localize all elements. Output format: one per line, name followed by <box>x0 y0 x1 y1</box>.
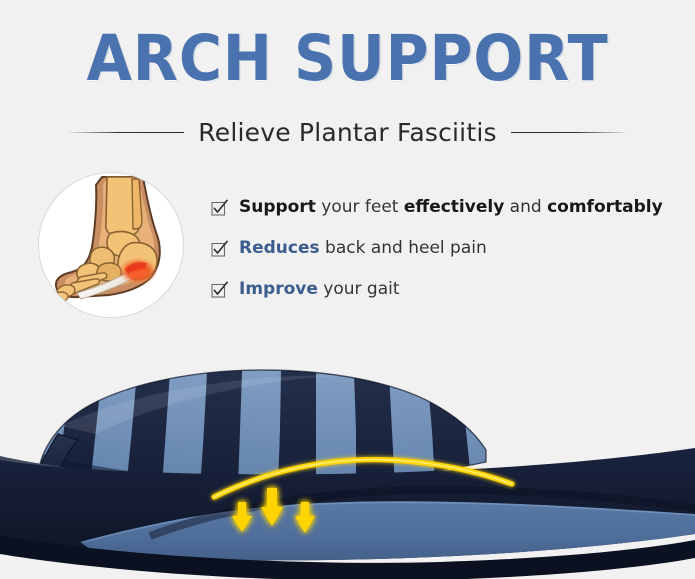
benefit-emphasis: Support <box>239 197 316 217</box>
benefits-list: Support your feet effectively and comfor… <box>211 196 691 319</box>
checkbox-checked-icon <box>211 240 228 257</box>
subtitle-row: Relieve Plantar Fasciitis <box>0 118 695 147</box>
divider-right <box>511 132 629 133</box>
benefit-emphasis: effectively <box>404 197 504 217</box>
benefit-text-reduces: Reduces back and heel pain <box>239 237 487 259</box>
benefit-emphasis: Improve <box>239 279 318 299</box>
foot-anatomy-illustration <box>38 172 184 318</box>
benefit-text-support: Support your feet effectively and comfor… <box>239 196 663 218</box>
checkbox-checked-icon <box>211 281 228 298</box>
divider-left <box>66 132 184 133</box>
benefit-plain: back and heel pain <box>320 238 487 258</box>
benefit-emphasis: Reduces <box>239 238 320 258</box>
benefit-plain: your gait <box>318 279 400 299</box>
page-title: ARCH SUPPORT <box>24 26 670 92</box>
sandal-illustration <box>0 330 695 579</box>
benefit-text-improve: Improve your gait <box>239 278 400 300</box>
page-subtitle: Relieve Plantar Fasciitis <box>198 118 496 147</box>
list-item: Reduces back and heel pain <box>211 237 691 261</box>
benefit-plain: your feet <box>316 197 404 217</box>
checkbox-checked-icon <box>211 199 228 216</box>
product-infographic: ARCH SUPPORT Relieve Plantar Fasciitis <box>0 0 695 579</box>
product-image-sandal <box>0 330 695 579</box>
benefit-emphasis: comfortably <box>547 197 663 217</box>
list-item: Improve your gait <box>211 278 691 302</box>
list-item: Support your feet effectively and comfor… <box>211 196 691 220</box>
foot-anatomy-icon <box>39 173 183 317</box>
benefit-plain: and <box>504 197 547 217</box>
